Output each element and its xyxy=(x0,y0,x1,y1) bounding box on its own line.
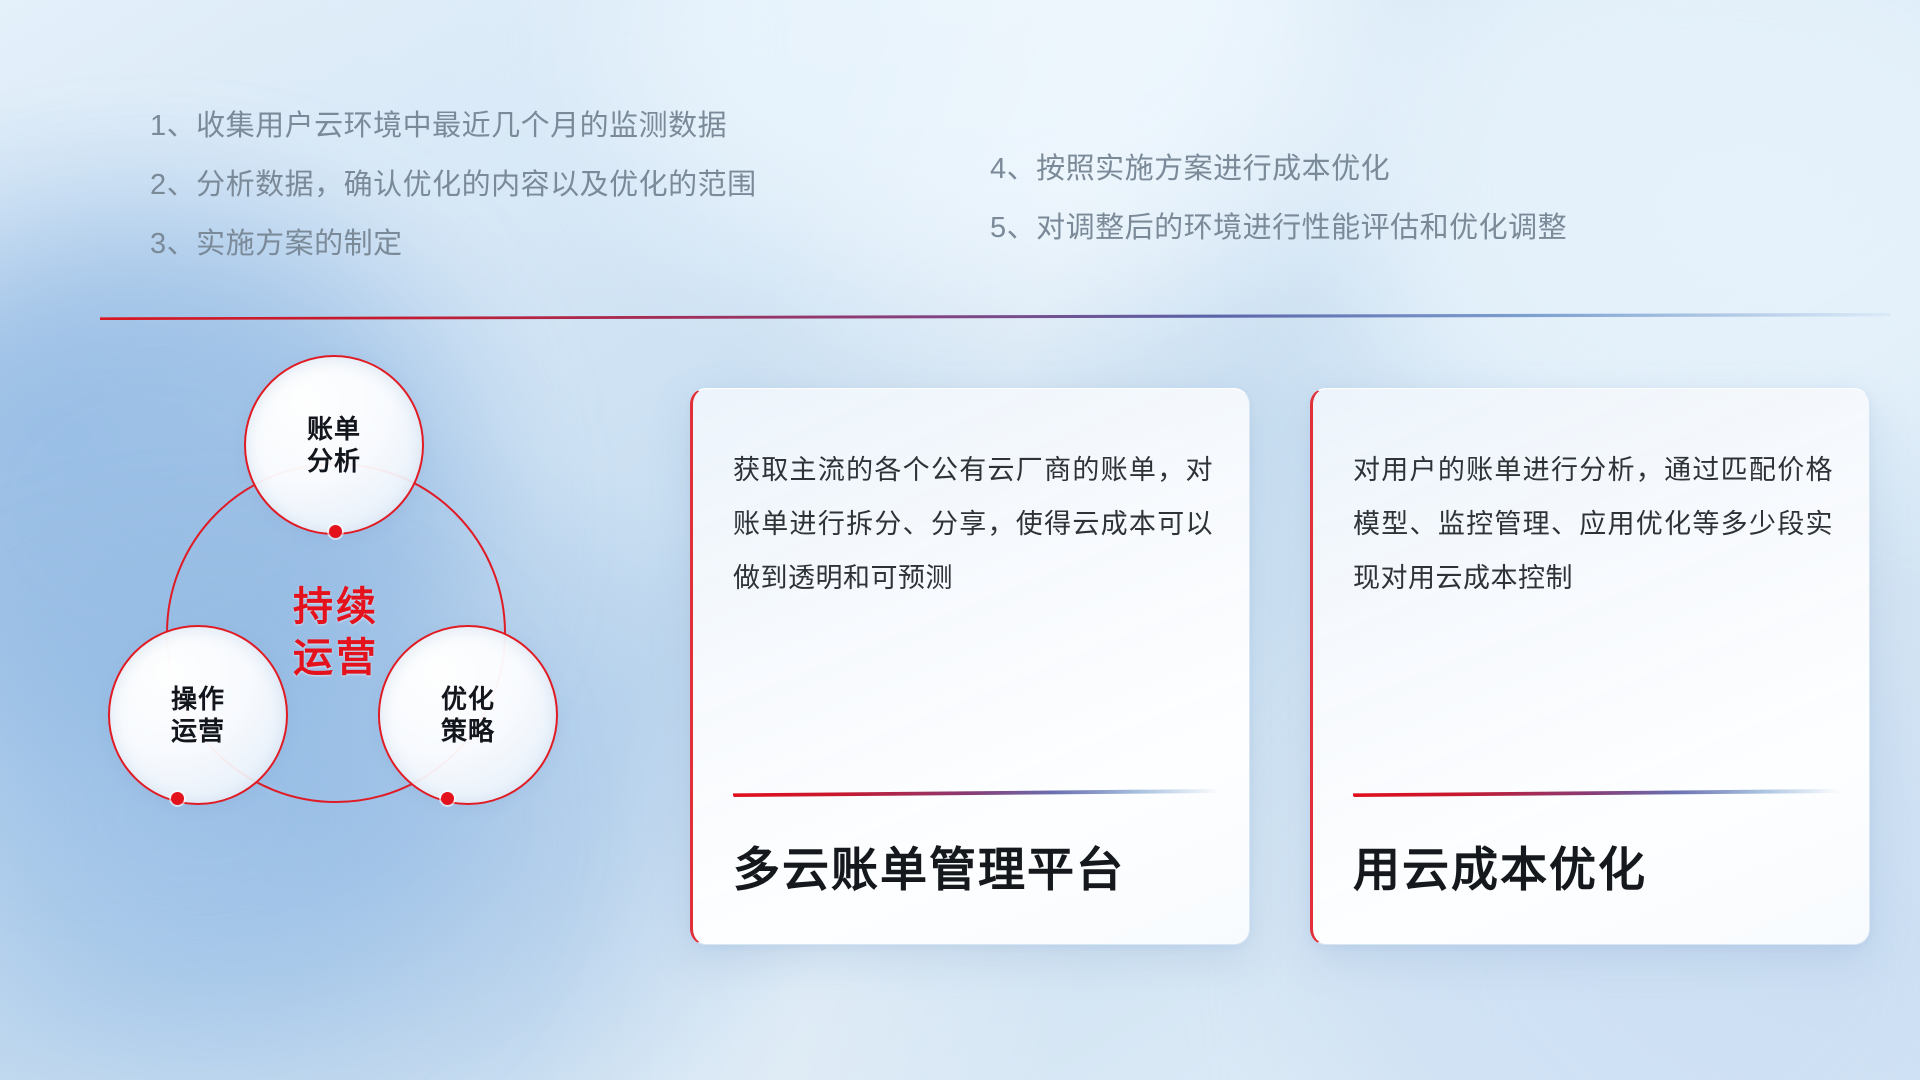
venn-label-line1: 账单 xyxy=(307,414,361,444)
venn-label-line2: 策略 xyxy=(441,716,495,746)
card-divider xyxy=(733,789,1219,797)
venn-node-dot-left xyxy=(171,792,184,805)
card-body-text: 获取主流的各个公有云厂商的账单，对账单进行拆分、分享，使得云成本可以做到透明和可… xyxy=(733,443,1213,605)
steps-right-column: 4、按照实施方案进行成本优化 5、对调整后的环境进行性能评估和优化调整 xyxy=(990,155,1567,273)
venn-label-operations: 操作 运营 xyxy=(171,683,225,748)
venn-node-dot-top xyxy=(329,525,342,538)
venn-label-optimization-strategy: 优化 策略 xyxy=(441,683,495,748)
venn-node-dot-right xyxy=(441,792,454,805)
venn-label-line2: 分析 xyxy=(307,446,361,476)
feature-card-multicloud-billing[interactable]: 获取主流的各个公有云厂商的账单，对账单进行拆分、分享，使得云成本可以做到透明和可… xyxy=(690,388,1250,945)
feature-card-cloud-cost-optimization[interactable]: 对用户的账单进行分析，通过匹配价格模型、监控管理、应用优化等多少段实现对用云成本… xyxy=(1310,388,1870,945)
venn-label-line2: 运营 xyxy=(171,716,225,746)
slide-canvas: 1、收集用户云环境中最近几个月的监测数据 2、分析数据，确认优化的内容以及优化的… xyxy=(0,0,1920,1080)
venn-center-line2: 运营 xyxy=(293,633,379,684)
card-divider xyxy=(1353,789,1839,797)
venn-label-line1: 操作 xyxy=(171,684,225,714)
step-item-4: 4、按照实施方案进行成本优化 xyxy=(990,155,1567,184)
step-item-2: 2、分析数据，确认优化的内容以及优化的范围 xyxy=(150,171,757,200)
steps-left-column: 1、收集用户云环境中最近几个月的监测数据 2、分析数据，确认优化的内容以及优化的… xyxy=(150,112,757,289)
venn-diagram: 账单 分析 操作 运营 优化 策略 持续 运营 xyxy=(100,355,620,915)
card-title: 多云账单管理平台 xyxy=(733,831,1213,900)
step-item-3: 3、实施方案的制定 xyxy=(150,230,757,259)
venn-label-line1: 优化 xyxy=(441,684,495,714)
venn-center-line1: 持续 xyxy=(293,582,379,633)
card-title: 用云成本优化 xyxy=(1353,831,1833,900)
step-item-5: 5、对调整后的环境进行性能评估和优化调整 xyxy=(990,214,1567,243)
step-item-1: 1、收集用户云环境中最近几个月的监测数据 xyxy=(150,112,757,141)
venn-label-billing-analysis: 账单 分析 xyxy=(307,413,361,478)
card-body-text: 对用户的账单进行分析，通过匹配价格模型、监控管理、应用优化等多少段实现对用云成本… xyxy=(1353,443,1833,605)
venn-center-label: 持续 运营 xyxy=(166,463,506,803)
